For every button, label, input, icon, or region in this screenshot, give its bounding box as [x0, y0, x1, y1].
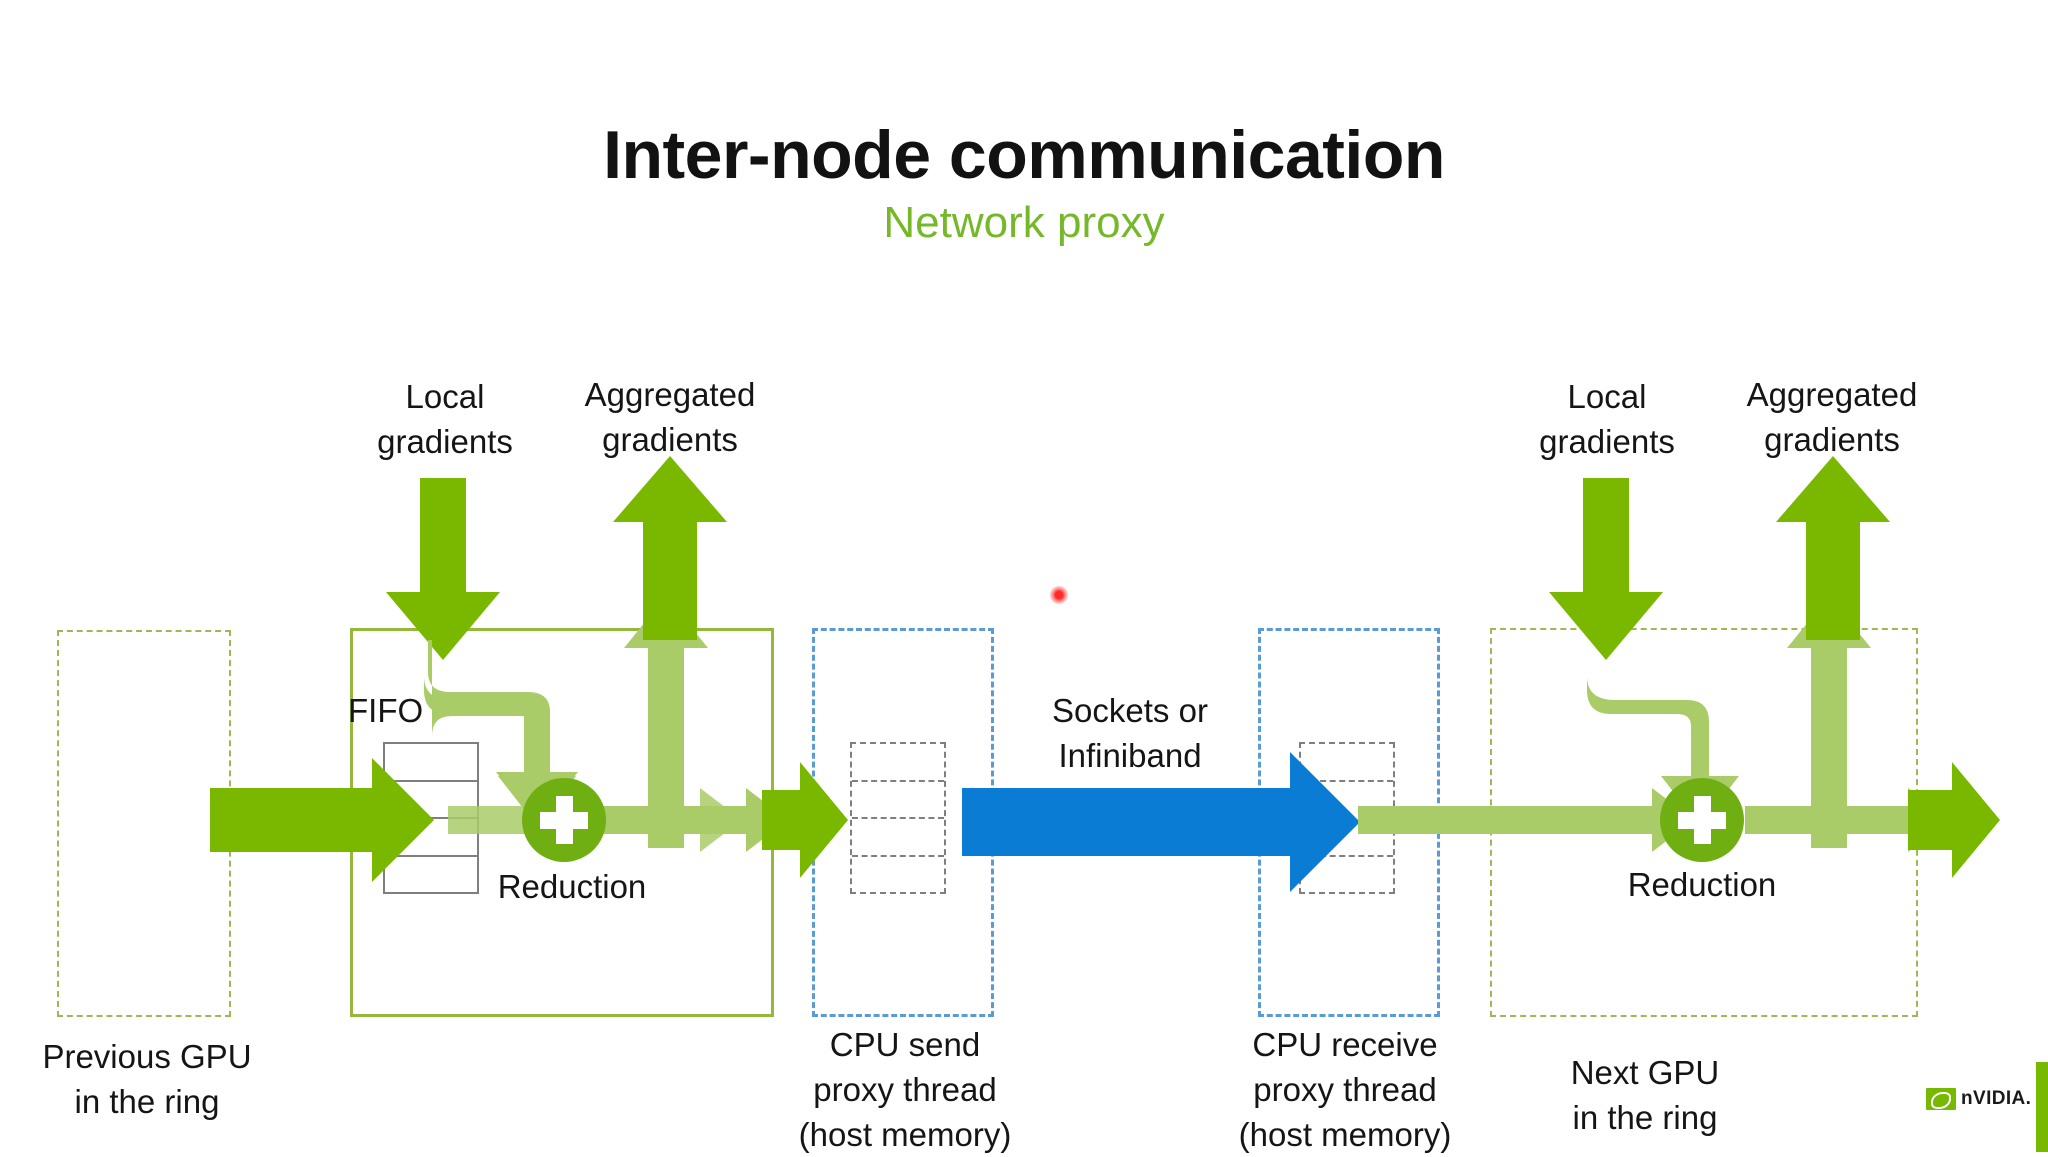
- arrow-aggregated-gradients-out-left: [613, 456, 727, 640]
- label-cpu-receive-proxy: CPU receive proxy thread (host memory): [1200, 1022, 1490, 1157]
- label-local-gradients-right: Local gradients: [1512, 374, 1702, 464]
- slide-canvas: Inter-node communication Network proxy: [0, 0, 2048, 1152]
- label-fifo: FIFO: [348, 688, 488, 733]
- fifo-cell: [385, 744, 477, 782]
- nvidia-eye-icon: [1926, 1088, 1956, 1110]
- fifo-cell: [1301, 744, 1393, 782]
- fifo-cell: [1301, 857, 1393, 893]
- previous-gpu-box: [57, 630, 231, 1017]
- page-subtitle: Network proxy: [0, 198, 2048, 248]
- label-local-gradients-left: Local gradients: [350, 374, 540, 464]
- fifo-stack-receive-proxy: [1299, 742, 1395, 894]
- label-next-gpu: Next GPU in the ring: [1500, 1050, 1790, 1140]
- fifo-cell: [385, 819, 477, 857]
- fifo-cell: [852, 744, 944, 782]
- arrow-to-next-gpu: [1908, 762, 2000, 878]
- arrow-aggregated-gradients-out-right: [1776, 456, 1890, 640]
- label-cpu-send-proxy: CPU send proxy thread (host memory): [760, 1022, 1050, 1157]
- page-title: Inter-node communication: [0, 118, 2048, 192]
- slide-edge-accent-bar: [2036, 1062, 2048, 1152]
- fifo-cell: [1301, 819, 1393, 857]
- reduction-node-left: [522, 778, 606, 862]
- laser-pointer-cursor: [1050, 586, 1068, 604]
- label-aggregated-gradients-left: Aggregated gradients: [560, 372, 780, 462]
- nvidia-logo: nVIDIA.: [1926, 1088, 2031, 1110]
- fifo-cell: [385, 782, 477, 820]
- fifo-cell: [852, 857, 944, 893]
- label-previous-gpu: Previous GPU in the ring: [12, 1034, 282, 1124]
- label-reduction-right: Reduction: [1542, 862, 1862, 907]
- fifo-cell: [852, 782, 944, 820]
- nvidia-wordmark: nVIDIA.: [1961, 1088, 2031, 1110]
- fifo-stack-send-proxy: [850, 742, 946, 894]
- reduction-node-right: [1660, 778, 1744, 862]
- label-reduction-left: Reduction: [452, 864, 692, 909]
- fifo-cell: [852, 819, 944, 857]
- label-aggregated-gradients-right: Aggregated gradients: [1722, 372, 1942, 462]
- fifo-cell: [1301, 782, 1393, 820]
- label-network-transport: Sockets or Infiniband: [1000, 688, 1260, 778]
